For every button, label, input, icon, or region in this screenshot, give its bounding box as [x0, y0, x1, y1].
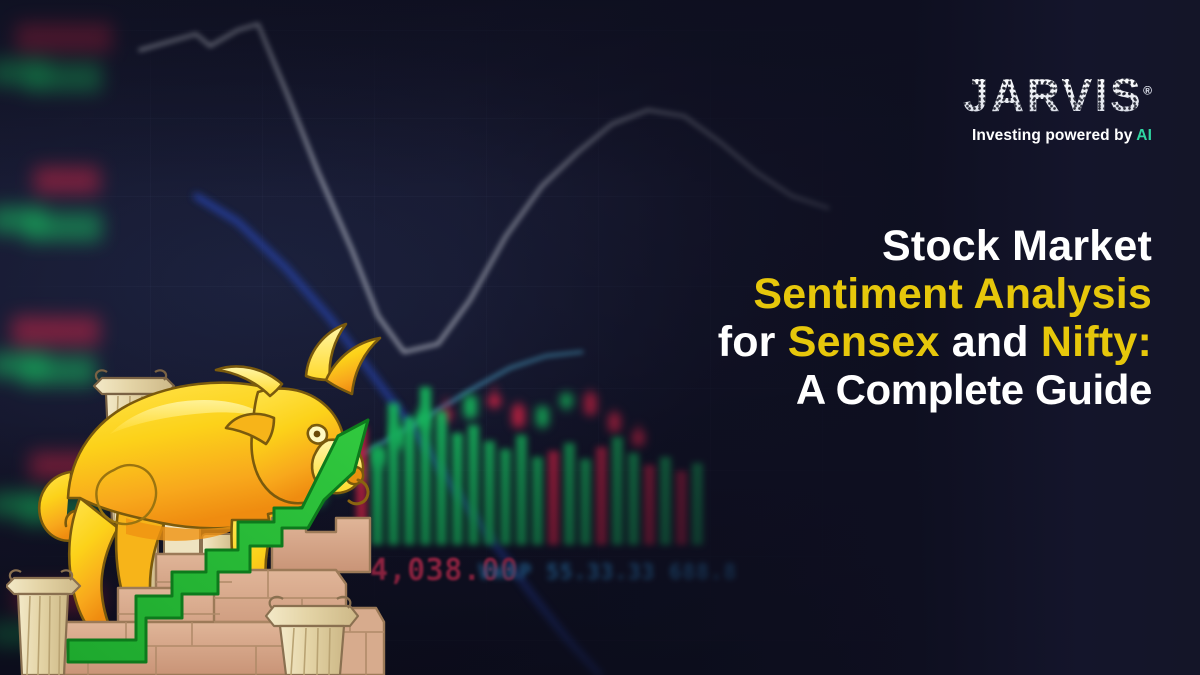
- headline-line-1: Stock Market: [592, 222, 1152, 270]
- headline-line-3-and: and: [940, 318, 1041, 366]
- registered-mark-icon: ®: [1143, 84, 1152, 98]
- stock-market-banner: 4,038.00 VWAP 55.33.33 688.8: [0, 0, 1200, 675]
- headline-line-2: Sentiment Analysis: [592, 270, 1152, 318]
- tagline-prefix: Investing powered by: [972, 127, 1132, 144]
- logo-tagline: Investing powered by AI: [963, 127, 1152, 145]
- headline-line-3-sensex: Sensex: [788, 318, 940, 366]
- headline-line-3: for Sensex and Nifty:: [592, 318, 1152, 366]
- tagline-accent: AI: [1136, 127, 1152, 144]
- page-title: Stock Market Sentiment Analysis for Sens…: [592, 222, 1152, 414]
- jarvis-logo: JARVIS® Investing powered by AI: [963, 72, 1152, 145]
- headline-line-3-nifty: Nifty:: [1041, 318, 1152, 366]
- golden-bull-mascot: [6, 322, 386, 675]
- logo-word-text: JARVIS: [963, 69, 1143, 121]
- logo-wordmark: JARVIS®: [963, 72, 1152, 118]
- headline-line-4: A Complete Guide: [592, 366, 1152, 413]
- headline-line-3-for: for: [718, 318, 788, 366]
